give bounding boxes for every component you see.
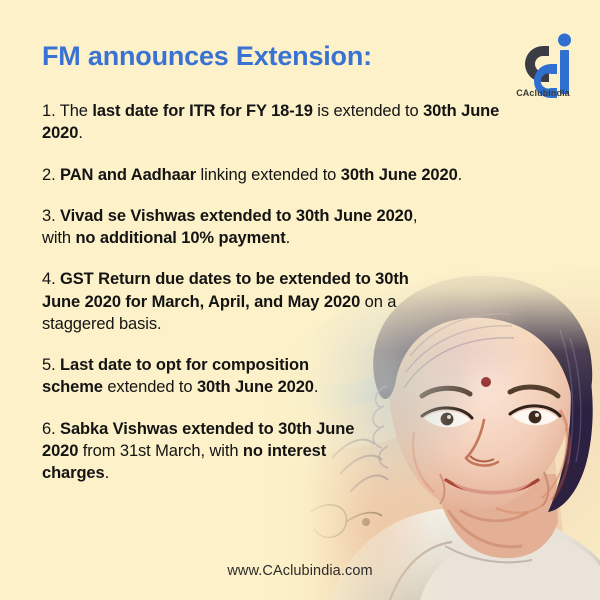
page-title: FM announces Extension: (42, 42, 372, 72)
list-item-number: 5. (42, 356, 60, 374)
list-item-text: The (60, 102, 93, 120)
list-item-text: linking extended to (196, 166, 341, 184)
list-item-text: . (105, 464, 109, 482)
list-item-text: from 31st March, with (78, 442, 243, 460)
announcement-list: 1. The last date for ITR for FY 18-19 is… (42, 100, 502, 503)
list-item: 3. Vivad se Vishwas extended to 30th Jun… (42, 205, 442, 250)
list-item-number: 2. (42, 166, 60, 184)
list-item-text: . (78, 124, 82, 142)
logo-wordmark: CAclubindia (498, 88, 588, 98)
list-item: 4. GST Return due dates to be extended t… (42, 268, 442, 335)
list-item-number: 4. (42, 270, 60, 288)
list-item-text: . (314, 378, 318, 396)
list-item-text: is extended to (313, 102, 423, 120)
list-item-emphasis: Vivad se Vishwas extended to 30th June 2… (60, 207, 413, 225)
poster-canvas: CAclubindia FM announces Extension: 1. T… (0, 0, 600, 600)
list-item-text: . (286, 229, 290, 247)
list-item-emphasis: PAN and Aadhaar (60, 166, 196, 184)
list-item: 5. Last date to opt for composition sche… (42, 354, 372, 399)
list-item-emphasis: last date for ITR for FY 18-19 (92, 102, 312, 120)
list-item-number: 3. (42, 207, 60, 225)
website-footer[interactable]: www.CAclubindia.com (0, 563, 600, 579)
list-item-number: 1. (42, 102, 60, 120)
list-item-emphasis: 30th June 2020 (341, 166, 458, 184)
list-item-text: . (458, 166, 462, 184)
list-item: 2. PAN and Aadhaar linking extended to 3… (42, 164, 502, 186)
list-item-emphasis: GST Return due dates to be extended to 3… (42, 270, 409, 310)
list-item-number: 6. (42, 420, 60, 438)
list-item: 1. The last date for ITR for FY 18-19 is… (42, 100, 502, 145)
list-item-emphasis: no additional 10% payment (75, 229, 285, 247)
list-item: 6. Sabka Vishwas extended to 30th June 2… (42, 418, 372, 485)
list-item-text: extended to (103, 378, 197, 396)
list-item-emphasis: 30th June 2020 (197, 378, 314, 396)
